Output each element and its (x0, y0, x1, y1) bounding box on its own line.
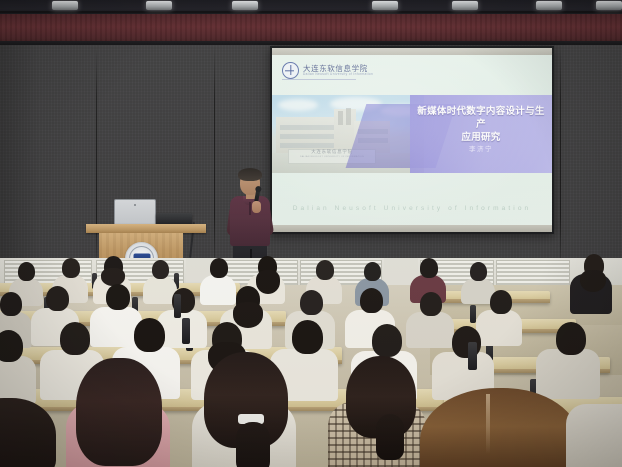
screen-top-bar (272, 48, 552, 55)
slide-logo-underline (282, 79, 356, 80)
beam-texture (0, 14, 622, 46)
slide-logo-cn: 大连东软信息学院 (303, 65, 373, 73)
speaker-hand (252, 201, 261, 213)
projected-slide: 大连东软信息学院 Dalian Neusoft University of In… (272, 48, 552, 232)
speaker-hair (238, 168, 262, 181)
ceiling-light (452, 1, 478, 10)
slide-footer-watermark: Dalian Neusoft University of Information (272, 205, 552, 212)
ceiling-light (596, 1, 622, 10)
slide-title: 新媒体时代数字内容设计与生产 应用研究 (414, 105, 548, 144)
ceiling-light (232, 1, 258, 10)
ceiling-light (372, 1, 398, 10)
podium-laptop (114, 199, 156, 227)
water-bottle (174, 294, 181, 318)
ceiling-beam (0, 14, 622, 46)
slide-university-logo: 大连东软信息学院 Dalian Neusoft University of In… (282, 62, 373, 79)
slide-logo-en: Dalian Neusoft University of Information (303, 72, 373, 76)
projection-screen: 大连东软信息学院 Dalian Neusoft University of In… (270, 46, 554, 234)
university-emblem-icon (282, 62, 299, 79)
speaker-shirt (230, 196, 270, 246)
water-bottle (468, 342, 477, 370)
ceiling-light (536, 1, 562, 10)
lecture-hall-photo: 大连东软信息学院 Dalian Neusoft University of In… (0, 0, 622, 467)
slide-title-band: 新媒体时代数字内容设计与生产 应用研究 李济宁 (410, 95, 552, 173)
slide-presenter-name: 李济宁 (414, 143, 548, 153)
ceiling-light (52, 1, 78, 10)
screen-bottom-bar (272, 225, 552, 232)
slide-title-line1: 新媒体时代数字内容设计与生产 (414, 105, 548, 131)
ceiling-light (146, 1, 172, 10)
water-bottle (182, 318, 190, 344)
podium-top-surface (86, 224, 206, 233)
